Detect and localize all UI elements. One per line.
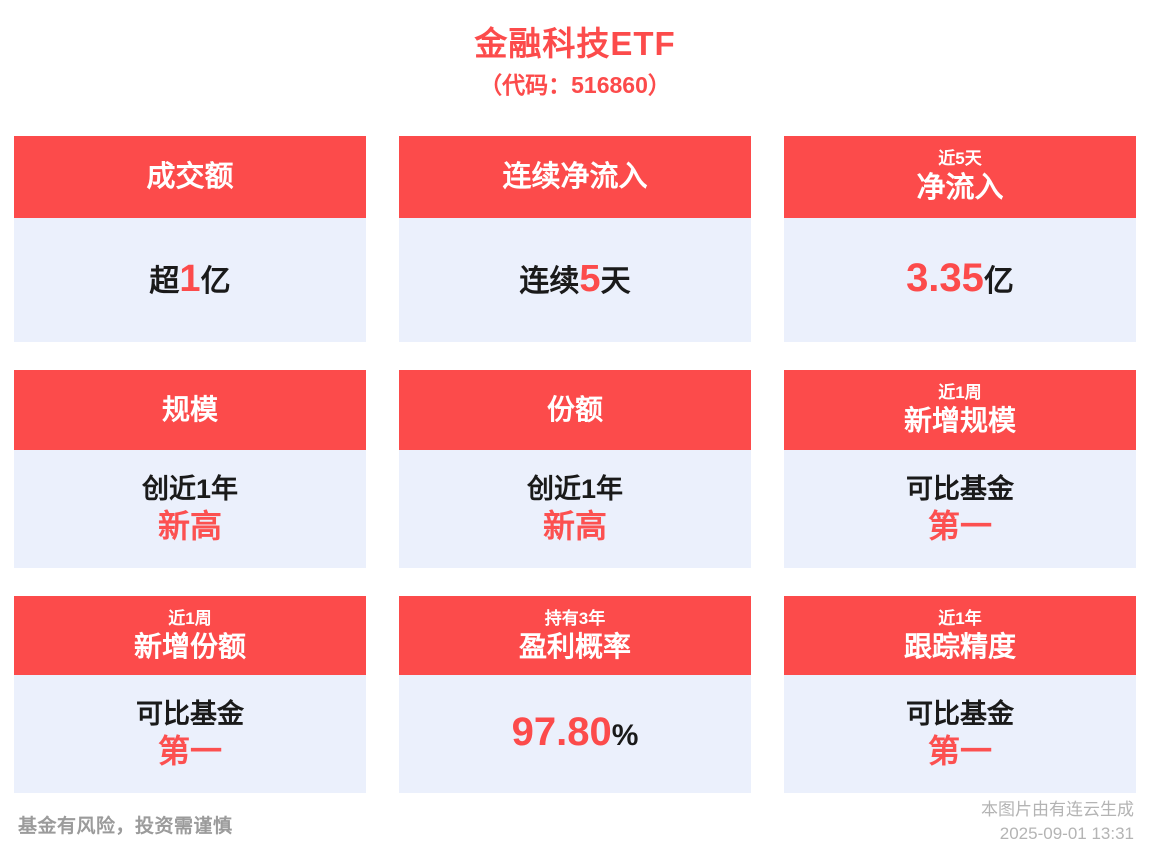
stat-card-new-shares-1w[interactable]: 近1周 新增份额 可比基金 第一	[14, 596, 366, 793]
card-header: 成交额	[14, 136, 366, 218]
card-body: 3.35亿	[784, 218, 1136, 342]
value-prefix: 连续	[519, 265, 579, 298]
value-suffix: %	[612, 719, 639, 752]
card-body: 97.80%	[399, 675, 751, 793]
card-value-line1: 创近1年	[142, 472, 238, 506]
card-body: 创近1年 新高	[14, 450, 366, 568]
card-value-line2: 第一	[928, 731, 992, 771]
value-suffix: 亿	[984, 265, 1014, 298]
card-sub-label: 持有3年	[545, 608, 605, 630]
card-value: 超1亿	[149, 259, 230, 302]
stat-card-shares[interactable]: 份额 创近1年 新高	[399, 370, 751, 568]
card-value-line1: 可比基金	[906, 472, 1014, 506]
generation-timestamp: 2025-09-01 13:31	[981, 822, 1134, 846]
card-main-label: 成交额	[146, 159, 233, 195]
card-value-line1: 可比基金	[906, 697, 1014, 731]
card-main-label: 份额	[547, 393, 603, 427]
stat-card-scale[interactable]: 规模 创近1年 新高	[14, 370, 366, 568]
card-value-line1: 创近1年	[527, 472, 623, 506]
generation-source: 本图片由有连云生成	[981, 798, 1134, 822]
card-body: 可比基金 第一	[784, 450, 1136, 568]
card-main-label: 跟踪精度	[904, 630, 1016, 664]
card-header: 近5天 净流入	[784, 136, 1136, 218]
value-highlight: 1	[179, 258, 200, 300]
value-highlight: 5	[579, 258, 600, 300]
page-header: 金融科技ETF （代码：516860）	[0, 0, 1150, 102]
value-suffix: 亿	[201, 265, 231, 298]
generation-info: 本图片由有连云生成 2025-09-01 13:31	[981, 798, 1134, 846]
card-header: 近1年 跟踪精度	[784, 596, 1136, 675]
card-main-label: 新增规模	[904, 404, 1016, 438]
value-suffix: 天	[601, 265, 631, 298]
card-header: 连续净流入	[399, 136, 751, 218]
card-value-line2: 新高	[543, 506, 607, 546]
card-value: 连续5天	[519, 259, 630, 302]
card-value-line2: 第一	[928, 506, 992, 546]
card-main-label: 净流入	[916, 170, 1003, 206]
card-header: 近1周 新增规模	[784, 370, 1136, 450]
card-body: 连续5天	[399, 218, 751, 342]
card-value: 3.35亿	[906, 258, 1014, 302]
card-main-label: 新增份额	[134, 630, 246, 664]
card-value: 97.80%	[512, 712, 639, 756]
card-body: 超1亿	[14, 218, 366, 342]
stat-card-continuous-net-inflow[interactable]: 连续净流入 连续5天	[399, 136, 751, 342]
card-sub-label: 近1周	[168, 608, 211, 630]
fund-code: （代码：516860）	[0, 68, 1150, 102]
stat-card-new-scale-1w[interactable]: 近1周 新增规模 可比基金 第一	[784, 370, 1136, 568]
risk-disclaimer: 基金有风险，投资需谨慎	[18, 811, 233, 838]
stat-card-grid: 成交额 超1亿 连续净流入 连续5天 近5天 净流入 3.35亿 规模 创近1年	[14, 136, 1136, 793]
value-highlight: 3.35	[906, 256, 984, 300]
stat-card-turnover[interactable]: 成交额 超1亿	[14, 136, 366, 342]
stat-card-net-inflow-5d[interactable]: 近5天 净流入 3.35亿	[784, 136, 1136, 342]
card-body: 可比基金 第一	[784, 675, 1136, 793]
card-main-label: 连续净流入	[502, 159, 647, 195]
card-header: 持有3年 盈利概率	[399, 596, 751, 675]
card-header: 近1周 新增份额	[14, 596, 366, 675]
card-body: 可比基金 第一	[14, 675, 366, 793]
card-sub-label: 近5天	[938, 148, 981, 170]
page-title: 金融科技ETF	[0, 22, 1150, 66]
card-body: 创近1年 新高	[399, 450, 751, 568]
card-sub-label: 近1周	[938, 382, 981, 404]
card-main-label: 盈利概率	[519, 630, 631, 664]
value-highlight: 97.80	[512, 710, 612, 754]
value-prefix: 超	[149, 265, 179, 298]
card-value-line2: 第一	[158, 731, 222, 771]
card-value-line2: 新高	[158, 506, 222, 546]
stat-card-tracking-accuracy-1y[interactable]: 近1年 跟踪精度 可比基金 第一	[784, 596, 1136, 793]
card-value-line1: 可比基金	[136, 697, 244, 731]
stat-card-profit-probability-3y[interactable]: 持有3年 盈利概率 97.80%	[399, 596, 751, 793]
card-header: 份额	[399, 370, 751, 450]
card-main-label: 规模	[162, 393, 218, 427]
card-header: 规模	[14, 370, 366, 450]
card-sub-label: 近1年	[938, 608, 981, 630]
